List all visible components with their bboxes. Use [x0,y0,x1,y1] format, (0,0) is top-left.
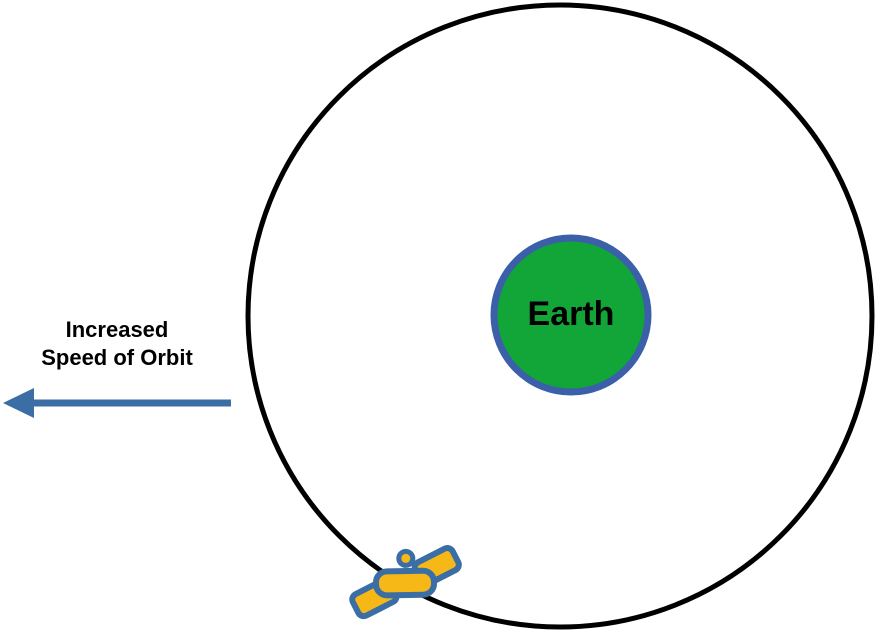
earth-label: Earth [471,294,671,334]
satellite-icon [343,532,466,629]
speed-arrow [3,388,231,418]
orbit-diagram: Increased Speed of Orbit Earth [0,0,888,631]
caption-line-2: Speed of Orbit [0,344,234,372]
caption-line-1: Increased [0,316,234,344]
arrow-head-icon [3,388,34,418]
satellite-body [376,571,434,596]
increased-speed-caption: Increased Speed of Orbit [0,316,234,372]
arrow-shaft [30,400,231,407]
satellite-antenna-dish-icon [396,549,415,568]
